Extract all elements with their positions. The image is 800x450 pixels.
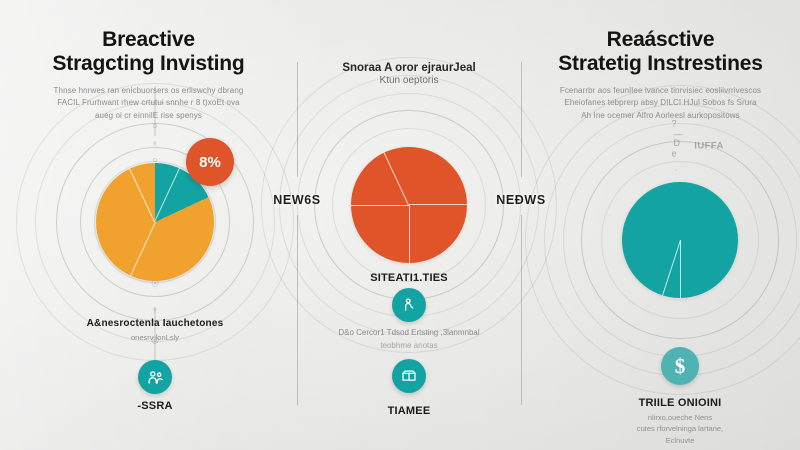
left-icon-caption-block: -SSRA <box>137 400 172 412</box>
right-pie-chart <box>622 182 738 298</box>
pie-spoke-4 <box>384 152 409 205</box>
center-icon-caption-block: TIAMEE <box>388 405 431 417</box>
center-body-line-2: teobhme anotas <box>305 340 513 353</box>
pie-spoke-2 <box>154 168 180 222</box>
pie-spoke-1 <box>409 205 410 263</box>
right-caption-subtitle-line-1: nlirxo,oueche Nens <box>637 412 723 423</box>
ring-glyph-5: ♀ <box>152 306 159 315</box>
dollar-icon: $ <box>661 347 699 385</box>
right-title-line1: Reaásctive <box>607 28 715 51</box>
right-caption-subtitle: nlirxo,oueche Nens cutes rforvelninga la… <box>637 412 723 446</box>
center-icon-caption: TIAMEE <box>388 405 431 417</box>
ring-glyph-1: ○ <box>152 122 157 131</box>
center-section-label-block: SITEATI1.TIES <box>370 272 448 284</box>
pie-spoke-3 <box>130 222 156 276</box>
pie-spoke-3 <box>409 204 467 205</box>
right-title: Reaásctive Stratetig Instrestines <box>539 28 782 76</box>
left-caption-block: A&nesroctenla Iauchetones onesrv lonLsly <box>87 318 224 343</box>
pie-spoke-1 <box>129 169 155 223</box>
right-caption-subtitle-line-2: cutes rforvelninga lartane, <box>637 423 723 434</box>
people-icon <box>138 360 172 394</box>
box-icon <box>392 359 426 393</box>
right-ghost-label: IUFFA <box>694 141 723 152</box>
pie-spoke-2 <box>662 240 681 295</box>
ring-glyph-4: · <box>675 166 678 175</box>
left-title: Breactive Stragcting Invisting <box>26 28 271 76</box>
right-title-line2: Stratetig Instrestines <box>539 52 782 76</box>
right-caption-block: TRIILE ONIOINI nlirxo,oueche Nens cutes … <box>637 397 723 446</box>
left-percent-badge: 8% <box>186 138 234 186</box>
left-caption-title: A&nesroctenla Iauchetones <box>87 318 224 329</box>
ring-glyph-2: ♀ <box>152 140 159 149</box>
center-pie-chart <box>351 147 467 263</box>
infographic-stage: NEW6S NEÐWS Breactive Stragcting Invisti… <box>0 0 800 450</box>
panel-left: Breactive Stragcting Invisting Thnse hnr… <box>0 0 297 450</box>
right-caption-subtitle-line-3: Eclnuvte <box>637 435 723 446</box>
panel-center: Snoraa A oror ejraurJeal Ktun oeptoris S… <box>297 0 521 450</box>
person-check-icon <box>392 288 426 322</box>
right-caption-title: TRIILE ONIOINI <box>637 397 723 409</box>
left-title-line1: Breactive <box>102 28 195 51</box>
left-title-line2: Stragcting Invisting <box>26 52 271 76</box>
left-caption-subtitle: onesrv lonLsly <box>87 332 224 343</box>
ring-glyph-3: e <box>671 150 676 159</box>
left-icon-caption: -SSRA <box>137 400 172 412</box>
pie-spoke-2 <box>351 205 409 206</box>
center-section-label: SITEATI1.TIES <box>370 272 448 284</box>
panel-right: Reaásctive Stratetig Instrestines Fcenar… <box>521 0 800 450</box>
center-body-text: D&o Cercor1 Tdsod Ertsting ,3lanmnbal te… <box>305 327 513 353</box>
left-caption-subtitle-line: onesrv lonLsly <box>87 332 224 343</box>
pie-spoke-1 <box>680 240 681 298</box>
ring-glyph-2: —D <box>674 130 683 148</box>
center-body-line-1: D&o Cercor1 Tdsod Ertsting ,3lanmnbal <box>305 327 513 340</box>
ring-glyph-1: ? <box>671 120 676 129</box>
dollar-glyph: $ <box>675 356 686 377</box>
